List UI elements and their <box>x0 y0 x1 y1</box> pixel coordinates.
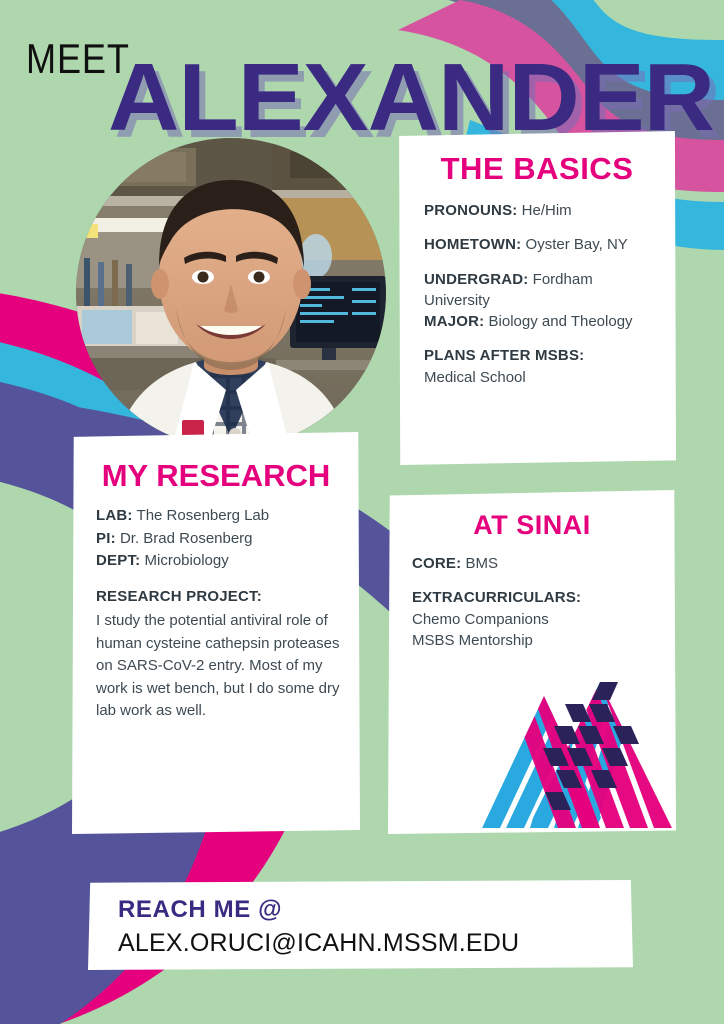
sinai-label-extracurriculars: EXTRACURRICULARS: <box>412 587 660 608</box>
research-row-lab: LAB: The Rosenberg Lab <box>96 505 344 528</box>
my-research-title: MY RESEARCH <box>72 432 360 491</box>
basics-row-major: MAJOR: Biology and Theology <box>424 311 660 332</box>
research-project-text: I study the potential antiviral role of … <box>96 610 344 723</box>
the-basics-title: THE BASICS <box>398 131 676 184</box>
basics-row-hometown: HOMETOWN: Oyster Bay, NY <box>424 234 660 255</box>
spacer <box>424 221 660 234</box>
basics-label-major: MAJOR: <box>424 313 484 330</box>
basics-label-undergrad: UNDERGRAD: <box>424 271 529 288</box>
card-reach-me: REACH ME @ ALEX.ORUCI@ICAHN.MSSM.EDU <box>88 880 633 970</box>
spacer <box>412 574 660 587</box>
the-basics-body: PRONOUNS: He/Him HOMETOWN: Oyster Bay, N… <box>398 184 676 388</box>
basics-row-pronouns: PRONOUNS: He/Him <box>424 200 660 221</box>
research-row-dept: DEPT: Microbiology <box>96 550 344 573</box>
sinai-extracurricular-item: MSBS Mentorship <box>412 630 660 651</box>
research-label-lab: LAB: <box>96 507 133 524</box>
reach-me-title: REACH ME @ <box>88 880 633 924</box>
basics-value-major: Biology and Theology <box>489 313 633 330</box>
basics-label-hometown: HOMETOWN: <box>424 236 521 253</box>
research-label-pi: PI: <box>96 530 116 547</box>
headline-name: ALEXANDER <box>108 50 714 146</box>
card-at-sinai: AT SINAI CORE: BMS EXTRACURRICULARS: Che… <box>388 490 676 834</box>
portrait-photo <box>76 138 386 448</box>
basics-value-plans: Medical School <box>424 367 660 388</box>
my-research-body: LAB: The Rosenberg Lab PI: Dr. Brad Rose… <box>72 491 360 723</box>
at-sinai-title: AT SINAI <box>388 490 676 539</box>
research-project-label: RESEARCH PROJECT: <box>96 586 344 609</box>
research-row-pi: PI: Dr. Brad Rosenberg <box>96 528 344 551</box>
reach-me-email[interactable]: ALEX.ORUCI@ICAHN.MSSM.EDU <box>88 924 633 958</box>
sinai-extracurricular-item: Chemo Companions <box>412 609 660 630</box>
research-value-dept: Microbiology <box>145 552 229 569</box>
spacer <box>424 256 660 269</box>
basics-row-undergrad: UNDERGRAD: Fordham University <box>424 269 660 312</box>
sinai-row-core: CORE: BMS <box>412 553 660 574</box>
profile-poster: MEET ALEXANDER THE BASICS PRONOUNS: He/H… <box>0 0 724 1024</box>
basics-value-pronouns: He/Him <box>522 202 572 219</box>
spacer <box>96 573 344 586</box>
card-the-basics: THE BASICS PRONOUNS: He/Him HOMETOWN: Oy… <box>398 131 676 465</box>
sinai-value-core: BMS <box>466 555 499 572</box>
basics-value-hometown: Oyster Bay, NY <box>526 236 628 253</box>
sinai-label-core: CORE: <box>412 555 461 572</box>
research-label-dept: DEPT: <box>96 552 140 569</box>
spacer <box>424 332 660 345</box>
at-sinai-body: CORE: BMS EXTRACURRICULARS: Chemo Compan… <box>388 539 676 651</box>
card-my-research: MY RESEARCH LAB: The Rosenberg Lab PI: D… <box>72 432 360 834</box>
research-value-lab: The Rosenberg Lab <box>137 507 270 524</box>
basics-label-plans: PLANS AFTER MSBS: <box>424 345 660 366</box>
basics-label-pronouns: PRONOUNS: <box>424 202 517 219</box>
research-value-pi: Dr. Brad Rosenberg <box>120 530 253 547</box>
mount-sinai-logo-icon <box>482 678 672 828</box>
